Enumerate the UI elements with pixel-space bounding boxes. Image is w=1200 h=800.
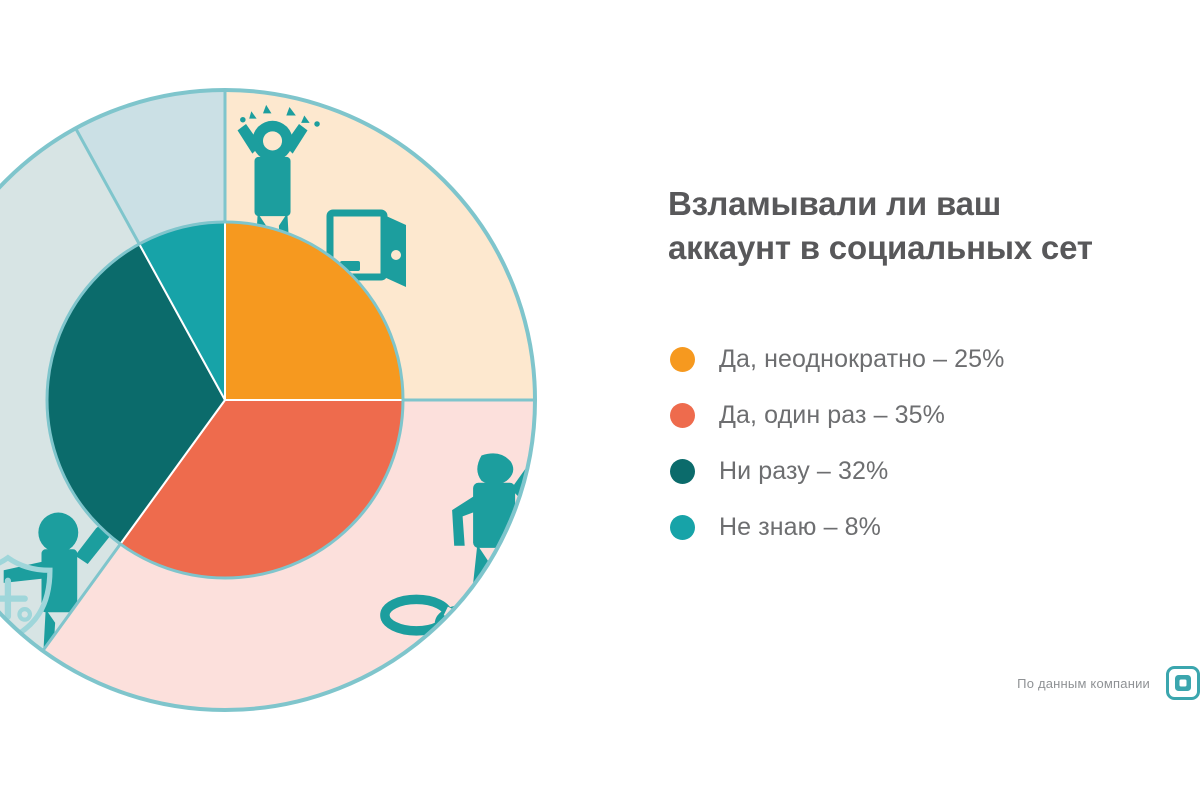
chart-svg [0, 45, 620, 755]
title-line-1: Взламывали ли ваш [668, 182, 1200, 226]
legend-dot-yes-repeatedly-icon [670, 347, 695, 372]
legend-label: Да, один раз – 35% [719, 401, 945, 430]
legend-label: Не знаю – 8% [719, 513, 881, 542]
chart-legend: Да, неоднократно – 25%Да, один раз – 35%… [670, 331, 1190, 555]
info-panel: Взламывали ли ваш аккаунт в социальных с… [668, 0, 1200, 800]
source-text: По данным компании [1017, 676, 1150, 691]
legend-row[interactable]: Ни разу – 32% [670, 443, 1190, 499]
donut-pie-chart [0, 45, 620, 755]
inner-pie-slices [47, 222, 403, 578]
infographic-root: Взламывали ли ваш аккаунт в социальных с… [0, 0, 1200, 800]
page-title: Взламывали ли ваш аккаунт в социальных с… [668, 182, 1200, 269]
legend-row[interactable]: Да, один раз – 35% [670, 387, 1190, 443]
legend-row[interactable]: Да, неоднократно – 25% [670, 331, 1190, 387]
company-logo-badge-icon [1166, 666, 1200, 700]
footer-source: По данным компании [668, 666, 1200, 700]
legend-label: Ни разу – 32% [719, 457, 888, 486]
legend-dot-never-icon [670, 459, 695, 484]
title-line-2: аккаунт в социальных сет [668, 226, 1200, 270]
legend-label: Да, неоднократно – 25% [719, 345, 1004, 374]
legend-row[interactable]: Не знаю – 8% [670, 499, 1190, 555]
legend-dot-yes-once-icon [670, 403, 695, 428]
legend-dot-dont-know-icon [670, 515, 695, 540]
